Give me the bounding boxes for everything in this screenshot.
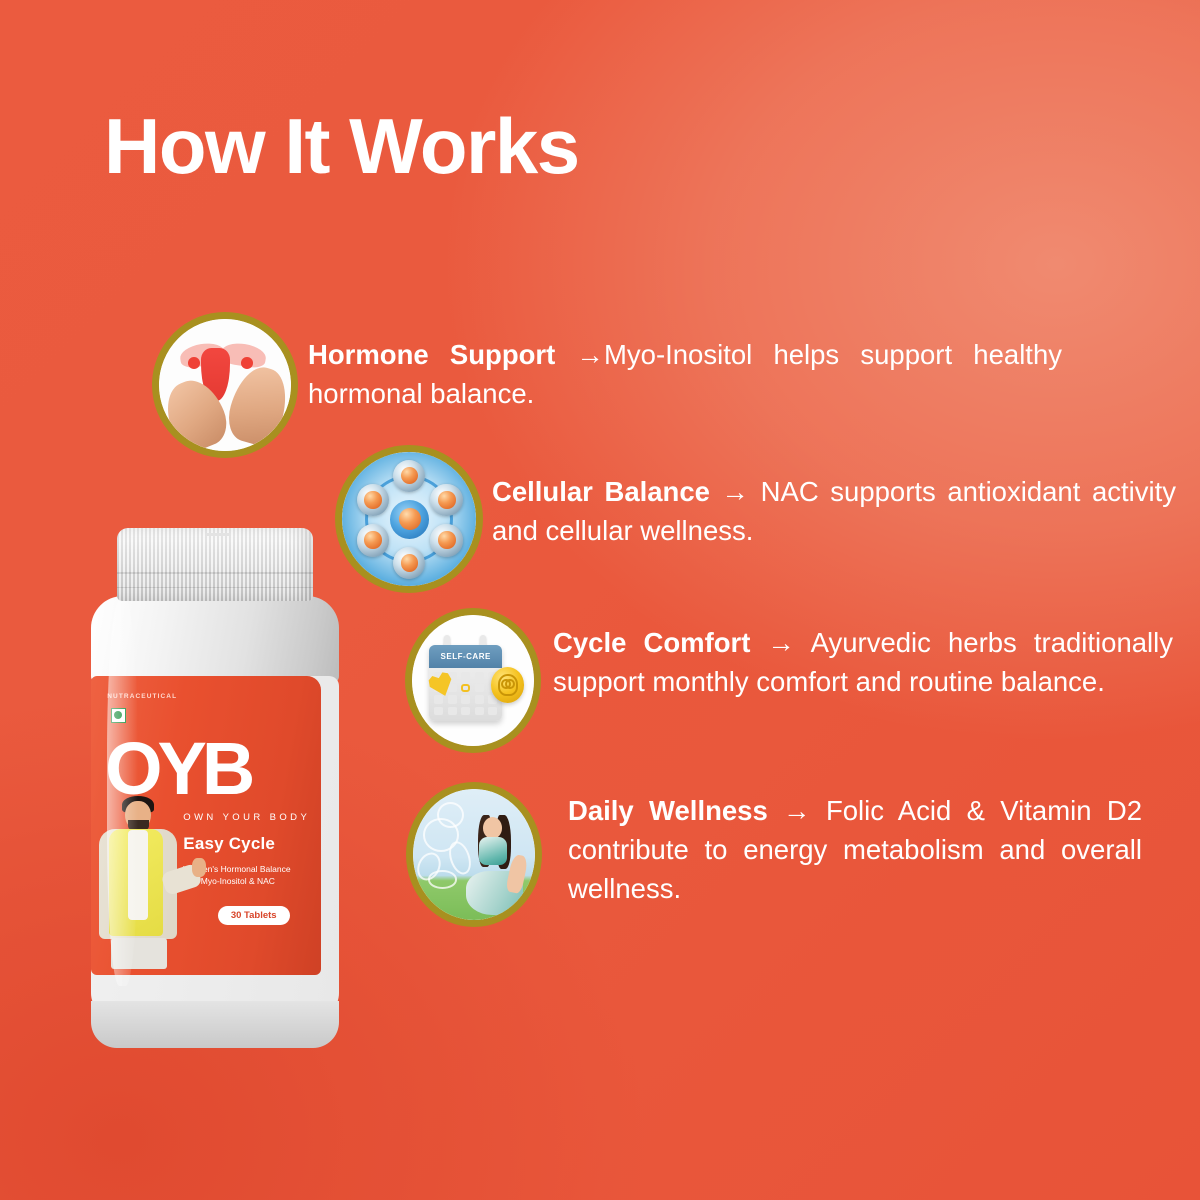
brand-tagline: OWN YOUR BODY <box>183 812 310 823</box>
bottle-label: NUTRACEUTICAL OYB OWN YOUR BODY Easy Cyc… <box>91 676 321 975</box>
brain-coin-icon <box>491 667 524 702</box>
feature-text-hormone-support: Hormone Support →Myo-Inositol helps supp… <box>308 335 1062 413</box>
brand-ambassador-figure <box>93 796 190 969</box>
bottle-cap <box>117 528 313 601</box>
page-title: How It Works <box>104 107 579 185</box>
feature-heading-cellular-balance: Cellular Balance <box>492 476 710 507</box>
feature-arrow-hormone-support: → <box>577 339 605 370</box>
cell-cluster-icon <box>335 445 483 593</box>
brand-logo: OYB <box>105 736 303 803</box>
product-name: Easy Cycle <box>183 834 275 854</box>
hands-holding-uterus-icon <box>152 312 298 458</box>
promo-canvas: How It Works Hormone Support →Myo-Inosit… <box>0 0 1200 1200</box>
feature-arrow-cycle-comfort: → <box>768 627 796 658</box>
nutraceutical-label: NUTRACEUTICAL <box>107 693 177 700</box>
bottle-shoulder <box>91 596 339 684</box>
feature-arrow-daily-wellness: → <box>783 795 811 826</box>
self-care-calendar-icon: SELF-CARE <box>405 608 541 753</box>
feature-heading-cycle-comfort: Cycle Comfort <box>553 627 750 658</box>
feature-arrow-cellular-balance: → <box>722 476 750 507</box>
feature-text-cellular-balance: Cellular Balance → NAC supports antioxid… <box>492 472 1176 550</box>
tablet-count-badge: 30 Tablets <box>218 906 290 925</box>
feature-text-daily-wellness: Daily Wellness → Folic Acid & Vitamin D2… <box>568 791 1142 908</box>
bottle-body: NUTRACEUTICAL OYB OWN YOUR BODY Easy Cyc… <box>91 676 339 1019</box>
feature-heading-hormone-support: Hormone Support <box>308 339 555 370</box>
bottle-base <box>91 1001 339 1048</box>
feature-heading-daily-wellness: Daily Wellness <box>568 795 768 826</box>
product-description-line2: with Myo-Inositol & NAC <box>183 875 312 887</box>
veg-mark-icon <box>111 708 126 723</box>
product-bottle: NUTRACEUTICAL OYB OWN YOUR BODY Easy Cyc… <box>86 528 344 1048</box>
meditating-woman-icon <box>406 782 542 927</box>
calendar-header-label: SELF-CARE <box>441 652 491 661</box>
feature-text-cycle-comfort: Cycle Comfort → Ayurvedic herbs traditio… <box>553 623 1173 701</box>
